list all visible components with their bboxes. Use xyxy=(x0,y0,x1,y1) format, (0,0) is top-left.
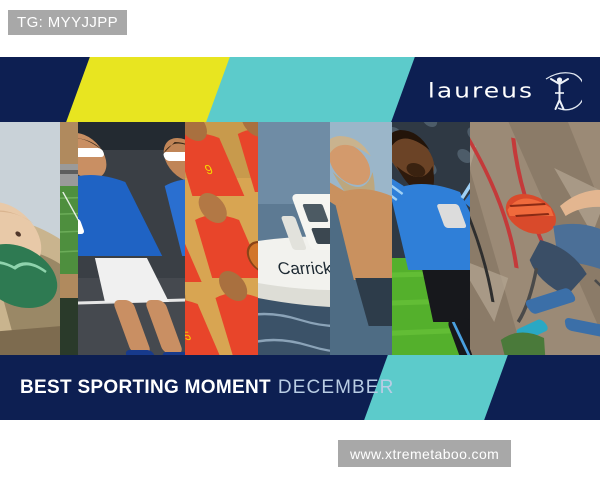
telegram-watermark: TG: MYYJJPP xyxy=(8,10,127,35)
laureus-poster: laureus xyxy=(0,57,600,420)
caption-primary: BEST SPORTING MOMENT xyxy=(20,377,271,399)
photo-collage: 119 74 xyxy=(0,122,600,355)
svg-text:Carrick: Carrick xyxy=(274,259,336,278)
bottom-caption-band: BEST SPORTING MOMENT DECEMBER xyxy=(0,355,600,420)
teal-chevron xyxy=(203,57,417,122)
laureus-logo: laureus xyxy=(428,65,582,115)
top-chevron-band: laureus xyxy=(0,57,600,122)
caption-secondary: DECEMBER xyxy=(278,377,394,399)
laureus-wordmark: laureus xyxy=(428,78,534,102)
caption: BEST SPORTING MOMENT DECEMBER xyxy=(20,355,394,420)
climbing-photo xyxy=(470,122,600,355)
site-watermark: www.xtremetaboo.com xyxy=(338,440,511,467)
collage-panel-climber xyxy=(470,122,600,355)
poster-canvas: TG: MYYJJPP laureus xyxy=(0,0,600,480)
laureus-figure-arc-icon xyxy=(538,67,582,113)
